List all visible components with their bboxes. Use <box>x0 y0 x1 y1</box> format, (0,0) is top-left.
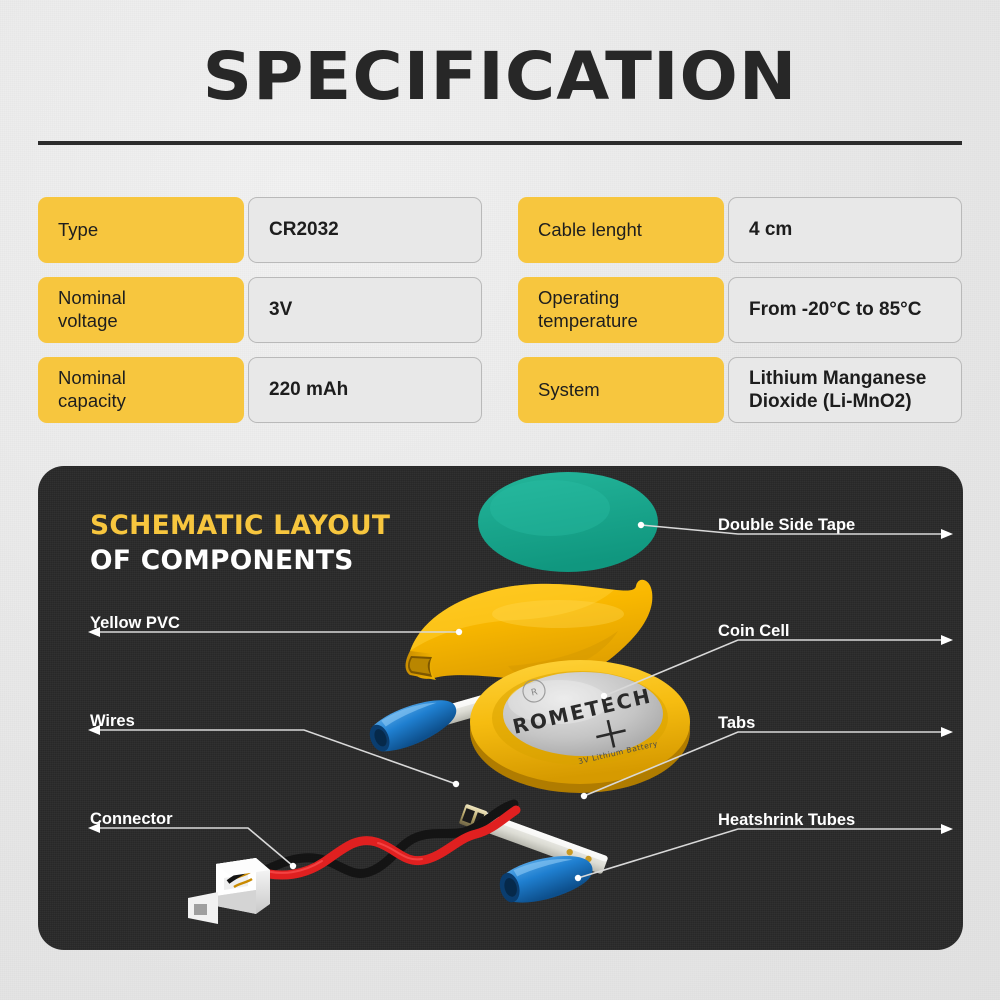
spec-label-text: Type <box>58 219 98 242</box>
spec-label-text-line1: Nominal <box>58 287 126 310</box>
spec-row-cable-length: Cable lenght 4 cm <box>518 197 962 263</box>
spec-value-nominal-capacity: 220 mAh <box>248 357 482 423</box>
spec-value-nominal-voltage: 3V <box>248 277 482 343</box>
spec-label-nominal-capacity: Nominal capacity <box>38 357 244 423</box>
spec-value-type: CR2032 <box>248 197 482 263</box>
spec-value-text: CR2032 <box>269 218 339 241</box>
spec-value-system: Lithium Manganese Dioxide (Li-MnO2) <box>728 357 962 423</box>
callout-yellow-pvc: Yellow PVC <box>90 614 180 633</box>
title-divider <box>38 141 962 145</box>
spec-label-text-line1: Operating <box>538 287 638 310</box>
spec-value-text-line2: Dioxide (Li-MnO2) <box>749 390 926 413</box>
spec-row-operating-temperature: Operating temperature From -20°C to 85°C <box>518 277 962 343</box>
spec-value-text: 3V <box>269 298 292 321</box>
spec-row-system: System Lithium Manganese Dioxide (Li-MnO… <box>518 357 962 423</box>
spec-value-text-line1: Lithium Manganese <box>749 367 926 390</box>
spec-label-text-line2: temperature <box>538 310 638 333</box>
callout-wires: Wires <box>90 712 135 731</box>
spec-label-text-line2: capacity <box>58 390 126 413</box>
spec-label-nominal-voltage: Nominal voltage <box>38 277 244 343</box>
spec-label-text-line2: voltage <box>58 310 126 333</box>
spec-label-type: Type <box>38 197 244 263</box>
schematic-panel: SCHEMATIC LAYOUT OF COMPONENTS <box>38 466 963 950</box>
callout-connector: Connector <box>90 810 173 829</box>
spec-row-nominal-capacity: Nominal capacity 220 mAh <box>38 357 482 423</box>
spec-value-text: From -20°C to 85°C <box>749 298 922 321</box>
spec-row-nominal-voltage: Nominal voltage 3V <box>38 277 482 343</box>
spec-label-cable-length: Cable lenght <box>518 197 724 263</box>
spec-value-cable-length: 4 cm <box>728 197 962 263</box>
callout-double-side-tape: Double Side Tape <box>718 516 855 535</box>
callout-heatshrink-tubes: Heatshrink Tubes <box>718 811 855 830</box>
spec-label-text: Cable lenght <box>538 219 642 242</box>
spec-label-operating-temperature: Operating temperature <box>518 277 724 343</box>
spec-row-type: Type CR2032 <box>38 197 482 263</box>
spec-label-text: System <box>538 379 600 402</box>
spec-value-text: 4 cm <box>749 218 792 241</box>
spec-value-operating-temperature: From -20°C to 85°C <box>728 277 962 343</box>
spec-table: Type CR2032 Cable lenght 4 cm Nominal vo… <box>38 197 962 423</box>
page-title: SPECIFICATION <box>0 44 1000 110</box>
callout-tabs: Tabs <box>718 714 755 733</box>
spec-value-text: 220 mAh <box>269 378 348 401</box>
spec-label-text-line1: Nominal <box>58 367 126 390</box>
callout-coin-cell: Coin Cell <box>718 622 790 641</box>
spec-label-system: System <box>518 357 724 423</box>
callout-leader-lines <box>38 466 963 950</box>
